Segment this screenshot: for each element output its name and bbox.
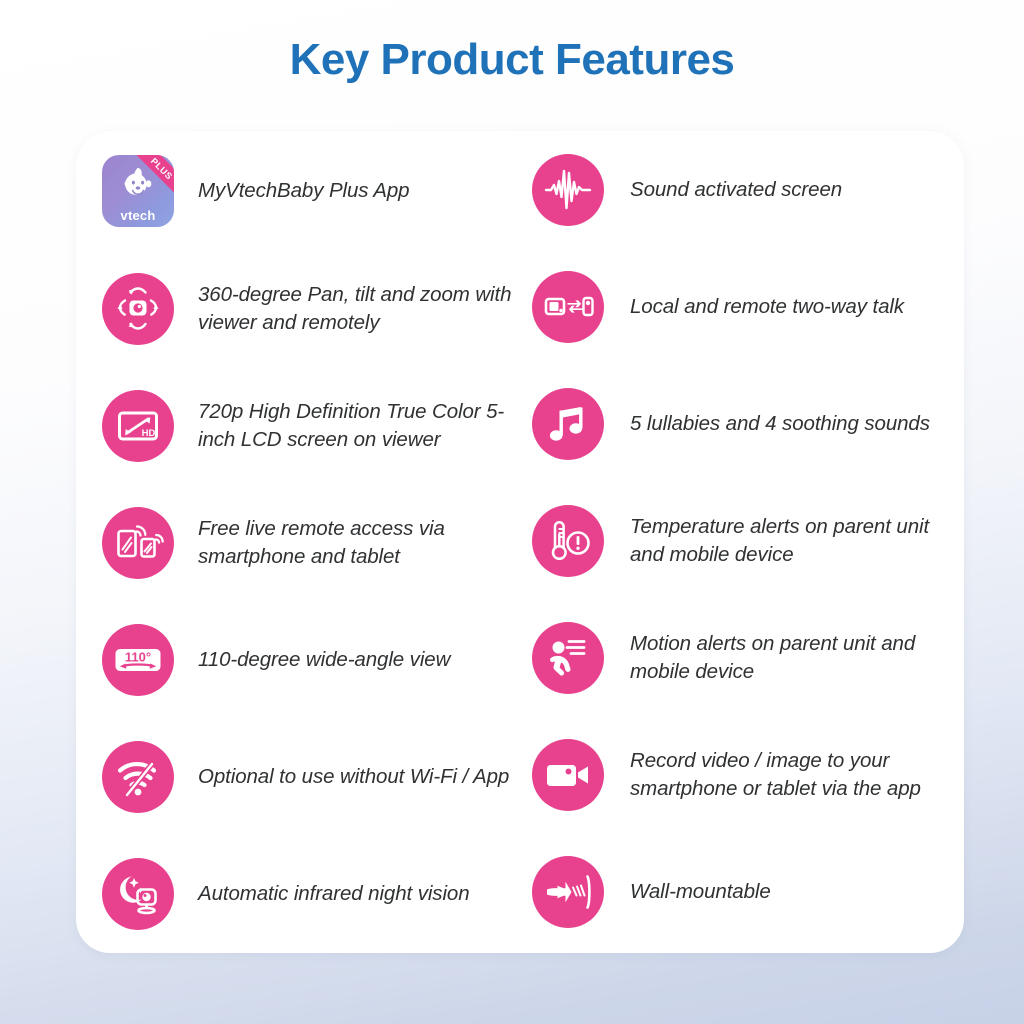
- feature-item: 360-degree Pan, tilt and zoom with viewe…: [98, 250, 520, 367]
- temperature-alert-icon: [532, 505, 604, 577]
- feature-item: Automatic infrared night vision: [98, 835, 520, 952]
- icon-container: [528, 735, 608, 815]
- feature-item: Sound activated screen: [528, 131, 964, 248]
- night-vision-icon: [102, 858, 174, 930]
- myvtechbaby-plus-app-icon: PLUS vtech: [102, 155, 174, 227]
- feature-item: Temperature alerts on parent unit and mo…: [528, 482, 964, 599]
- feature-item: 5 lullabies and 4 soothing sounds: [528, 365, 964, 482]
- feature-item: Motion alerts on parent unit and mobile …: [528, 599, 964, 716]
- music-note-icon: [532, 388, 604, 460]
- feature-item: Free live remote access via smartphone a…: [98, 484, 520, 601]
- icon-container: [98, 503, 178, 583]
- wifi-off-icon: [102, 741, 174, 813]
- feature-item: Local and remote two-way talk: [528, 248, 964, 365]
- sound-waveform-icon: [532, 154, 604, 226]
- feature-label: 110-degree wide-angle view: [178, 646, 456, 674]
- features-card: PLUS vtech MyVtechBaby Plus App: [76, 131, 964, 953]
- page-title: Key Product Features: [0, 36, 1024, 84]
- feature-label: Sound activated screen: [608, 176, 848, 204]
- feature-label: MyVtechBaby Plus App: [178, 177, 415, 205]
- icon-container: [528, 618, 608, 698]
- feature-label: Record video / image to your smartphone …: [608, 747, 964, 803]
- icon-container: [98, 737, 178, 817]
- icon-container: [528, 150, 608, 230]
- svg-text:110°: 110°: [125, 649, 151, 664]
- features-column-left: PLUS vtech MyVtechBaby Plus App: [76, 131, 520, 953]
- icon-container: [528, 501, 608, 581]
- product-features-infographic: Key Product Features: [0, 0, 1024, 1024]
- icon-container: [528, 267, 608, 347]
- pan-tilt-zoom-icon: [102, 273, 174, 345]
- feature-item: 110° 110-degree wide-angle view: [98, 601, 520, 718]
- icon-container: [528, 852, 608, 932]
- smartphone-tablet-icon: [102, 507, 174, 579]
- feature-item: Wall-mountable: [528, 833, 964, 950]
- hd-screen-icon: HD: [102, 390, 174, 462]
- icon-container: PLUS vtech: [98, 151, 178, 231]
- feature-item: PLUS vtech MyVtechBaby Plus App: [98, 131, 520, 250]
- feature-label: Temperature alerts on parent unit and mo…: [608, 513, 964, 569]
- icon-container: [98, 269, 178, 349]
- icon-container: HD: [98, 386, 178, 466]
- feature-label: Motion alerts on parent unit and mobile …: [608, 630, 964, 686]
- feature-label: 720p High Definition True Color 5-inch L…: [178, 398, 520, 454]
- feature-label: 360-degree Pan, tilt and zoom with viewe…: [178, 281, 520, 337]
- icon-container: [98, 854, 178, 934]
- feature-item: Record video / image to your smartphone …: [528, 716, 964, 833]
- svg-text:HD: HD: [142, 428, 156, 439]
- features-column-right: Sound activated screen: [520, 131, 964, 953]
- wide-angle-110-icon: 110°: [102, 624, 174, 696]
- icon-container: [528, 384, 608, 464]
- two-way-talk-icon: [532, 271, 604, 343]
- feature-label: Optional to use without Wi-Fi / App: [178, 763, 515, 791]
- feature-label: Free live remote access via smartphone a…: [178, 515, 520, 571]
- feature-label: Automatic infrared night vision: [178, 880, 476, 908]
- vtech-brand-label: vtech: [102, 208, 174, 223]
- feature-label: Local and remote two-way talk: [608, 293, 910, 321]
- icon-container: 110°: [98, 620, 178, 700]
- features-columns: PLUS vtech MyVtechBaby Plus App: [76, 131, 964, 953]
- motion-alert-icon: [532, 622, 604, 694]
- record-video-icon: [532, 739, 604, 811]
- wall-mount-icon: [532, 856, 604, 928]
- feature-label: 5 lullabies and 4 soothing sounds: [608, 410, 936, 438]
- feature-item: Optional to use without Wi-Fi / App: [98, 718, 520, 835]
- feature-item: HD 720p High Definition True Color 5-inc…: [98, 367, 520, 484]
- feature-label: Wall-mountable: [608, 878, 777, 906]
